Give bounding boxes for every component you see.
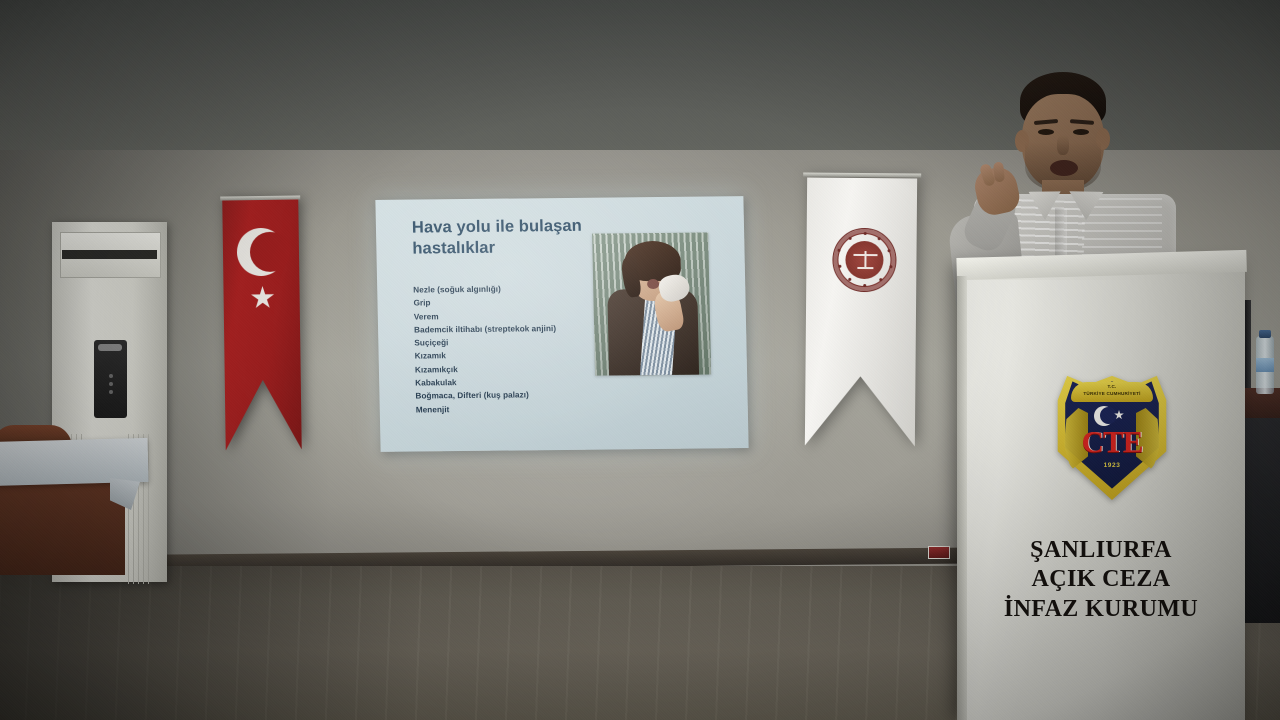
list-item: Menenjit bbox=[416, 401, 646, 417]
seal-center bbox=[845, 241, 883, 279]
crescent-icon bbox=[237, 228, 286, 277]
tablecloth bbox=[0, 438, 149, 486]
emblem-year: 1923 bbox=[1053, 462, 1171, 469]
presenter-nose bbox=[1057, 135, 1069, 155]
slide-photo-sneezing-woman bbox=[592, 232, 711, 375]
ac-panel-gleam bbox=[98, 344, 122, 351]
podium-sheen bbox=[967, 280, 1237, 720]
presenter-mouth bbox=[1050, 160, 1078, 176]
scales-of-justice-icon bbox=[864, 251, 866, 269]
sign-line-3: İNFAZ KURUMU bbox=[957, 595, 1245, 624]
emblem-top-text: T.C. TÜRKİYE CUMHURİYETİ bbox=[1071, 383, 1153, 397]
equipment-stand bbox=[1245, 300, 1251, 396]
podium-institution-sign: ŞANLIURFA AÇIK CEZA İNFAZ KURUMU bbox=[957, 536, 1245, 624]
emblem-crescent-icon bbox=[1094, 406, 1114, 426]
star-icon bbox=[250, 286, 274, 310]
presentation-room-photo: Hava yolu ile bulaşan hastalıklar Nezle … bbox=[0, 0, 1280, 720]
presenter-eye-left bbox=[1038, 129, 1054, 135]
photo-mouth bbox=[647, 279, 659, 289]
ac-indicator-dots bbox=[106, 370, 116, 396]
dark-equipment bbox=[1243, 418, 1280, 623]
banner-rod bbox=[803, 172, 921, 177]
cte-emblem-icon: T.C. TÜRKİYE CUMHURİYETİ CTE 1923 bbox=[1053, 372, 1171, 500]
slide-title: Hava yolu ile bulaşan hastalıklar bbox=[412, 216, 603, 260]
floor-shadow bbox=[0, 566, 420, 720]
turkish-flag-banner bbox=[222, 199, 301, 450]
emblem-letters: CTE bbox=[1053, 424, 1171, 460]
podium-left-edge bbox=[957, 276, 967, 720]
bottle-cap bbox=[1259, 330, 1271, 338]
flag-body bbox=[222, 199, 301, 450]
presenter-finger-2 bbox=[993, 162, 1005, 183]
projected-slide: Hava yolu ile bulaşan hastalıklar Nezle … bbox=[375, 196, 748, 452]
sign-line-2: AÇIK CEZA bbox=[957, 565, 1245, 594]
bottle-label bbox=[1256, 358, 1274, 372]
presenter-eye-right bbox=[1073, 129, 1089, 135]
ministry-of-justice-banner bbox=[805, 178, 917, 447]
wall-outlet bbox=[928, 546, 950, 559]
justice-seal-icon bbox=[832, 228, 897, 293]
emblem-top-line2: TÜRKİYE CUMHURİYETİ bbox=[1071, 390, 1153, 397]
banner-body bbox=[805, 178, 917, 447]
emblem-top-line1: T.C. bbox=[1071, 383, 1153, 390]
sign-line-1: ŞANLIURFA bbox=[957, 536, 1245, 565]
ac-vent-slot bbox=[62, 250, 157, 259]
